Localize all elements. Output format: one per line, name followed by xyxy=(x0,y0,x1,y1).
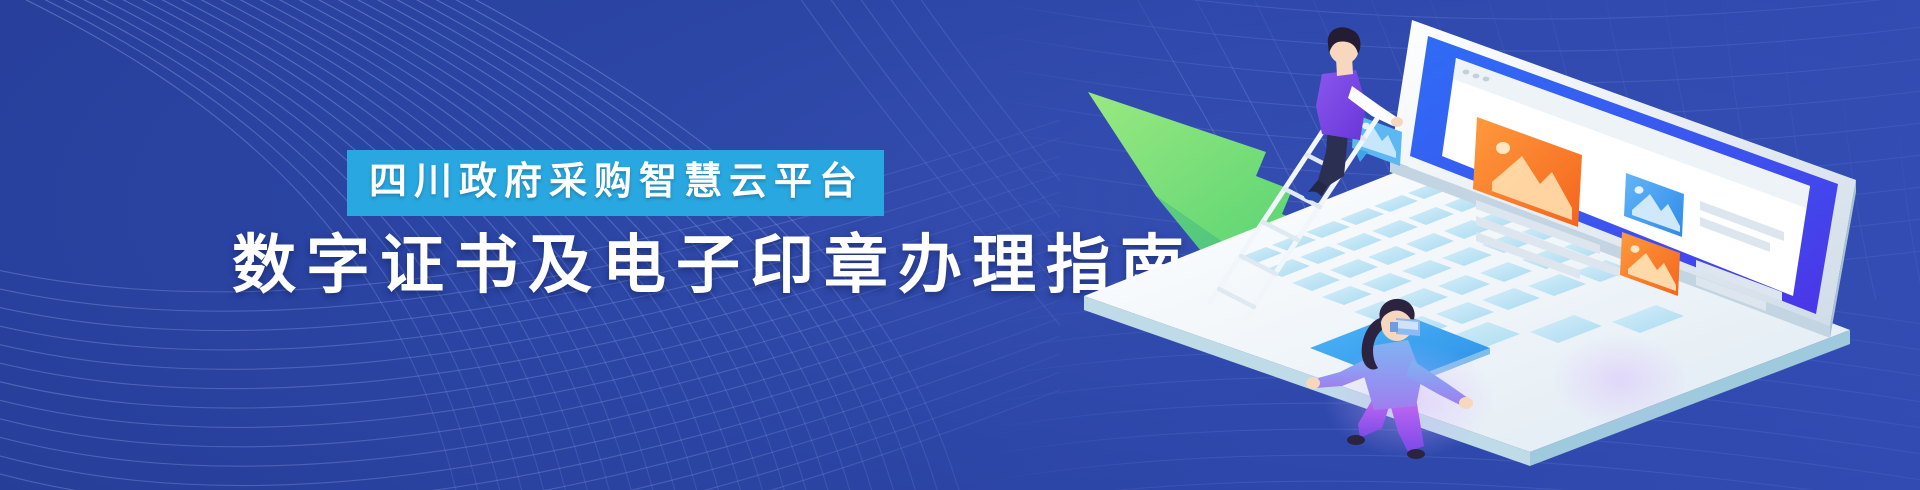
banner-headline: 数字证书及电子印章办理指南 xyxy=(232,230,1132,302)
page-banner: 四川政府采购智慧云平台 数字证书及电子印章办理指南 xyxy=(0,0,1920,490)
platform-name-badge: 四川政府采购智慧云平台 xyxy=(347,150,884,216)
banner-text-block: 四川政府采购智慧云平台 数字证书及电子印章办理指南 xyxy=(232,150,1132,302)
